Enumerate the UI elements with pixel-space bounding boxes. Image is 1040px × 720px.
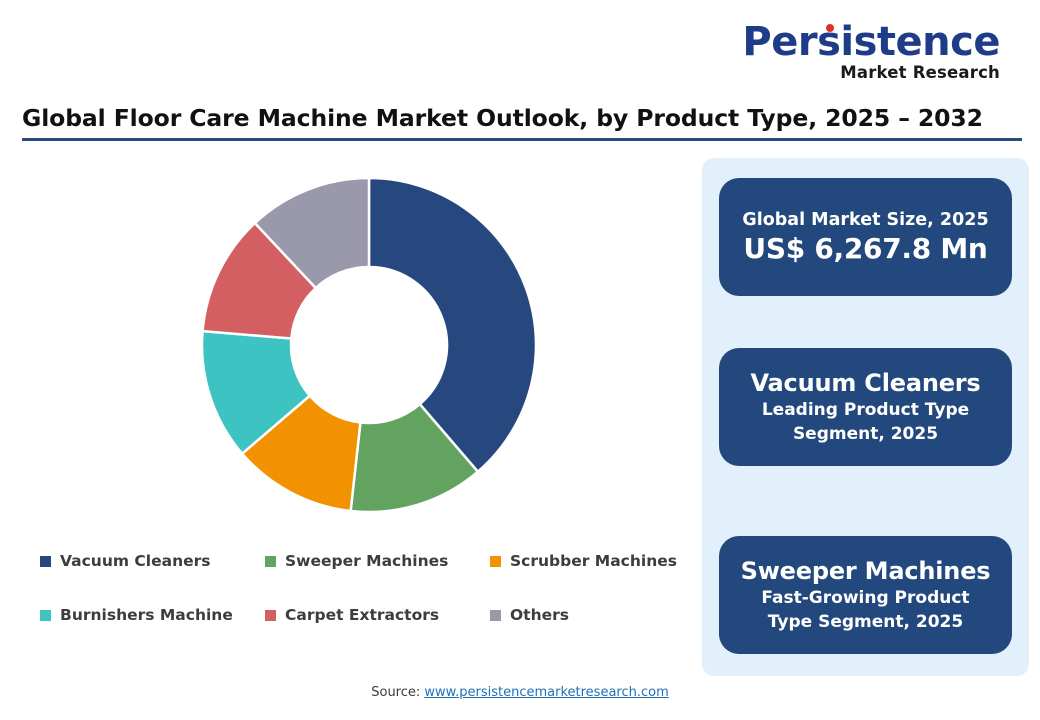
legend-item-sweeper-machines[interactable]: Sweeper Machines [265,552,490,570]
legend-swatch-icon [265,556,276,567]
legend-swatch-icon [490,556,501,567]
fastest-segment-name: Sweeper Machines [741,557,991,586]
donut-chart [0,150,700,550]
fastest-segment-caption-line2: Type Segment, 2025 [768,611,963,633]
legend-item-label: Vacuum Cleaners [60,552,211,570]
legend-item-vacuum-cleaners[interactable]: Vacuum Cleaners [40,552,265,570]
leading-segment-caption-line2: Segment, 2025 [793,423,938,445]
leading-segment-caption-line1: Leading Product Type [762,399,969,421]
source-link[interactable]: www.persistencemarketresearch.com [424,685,668,700]
legend-item-carpet-extractors[interactable]: Carpet Extractors [265,606,490,624]
legend-item-scrubber-machines[interactable]: Scrubber Machines [490,552,690,570]
legend-swatch-icon [490,610,501,621]
page-title: Global Floor Care Machine Market Outlook… [22,104,1022,132]
legend-swatch-icon [40,610,51,621]
highlight-card-fastest-segment: Sweeper Machines Fast-Growing Product Ty… [719,536,1012,654]
source-line: Source: www.persistencemarketresearch.co… [0,685,1040,700]
brand-logo: Persistence Market Research [742,22,1000,82]
highlight-card-leading-segment: Vacuum Cleaners Leading Product Type Seg… [719,348,1012,466]
infographic-page: Persistence Market Research Global Floor… [0,0,1040,720]
legend-item-label: Others [510,606,569,624]
brand-logo-tagline: Market Research [742,65,1000,82]
legend-swatch-icon [40,556,51,567]
legend-item-label: Carpet Extractors [285,606,439,624]
leading-segment-name: Vacuum Cleaners [750,369,980,398]
legend-swatch-icon [265,610,276,621]
market-size-label: Global Market Size, 2025 [742,209,988,231]
donut-slice-group [202,178,536,512]
legend-item-label: Burnishers Machine [60,606,233,624]
donut-chart-svg [0,150,700,550]
title-divider [22,138,1022,141]
chart-legend: Vacuum Cleaners Sweeper Machines Scrubbe… [40,552,700,660]
market-size-value: US$ 6,267.8 Mn [743,232,987,265]
legend-item-label: Scrubber Machines [510,552,677,570]
legend-item-burnishers-machine[interactable]: Burnishers Machine [40,606,265,624]
highlights-panel: Global Market Size, 2025 US$ 6,267.8 Mn … [702,158,1029,676]
page-title-block: Global Floor Care Machine Market Outlook… [22,104,1022,141]
brand-logo-name: Persistence [742,22,1000,62]
source-prefix: Source: [371,685,424,700]
legend-item-label: Sweeper Machines [285,552,448,570]
legend-item-others[interactable]: Others [490,606,690,624]
highlight-card-market-size: Global Market Size, 2025 US$ 6,267.8 Mn [719,178,1012,296]
fastest-segment-caption-line1: Fast-Growing Product [761,587,969,609]
